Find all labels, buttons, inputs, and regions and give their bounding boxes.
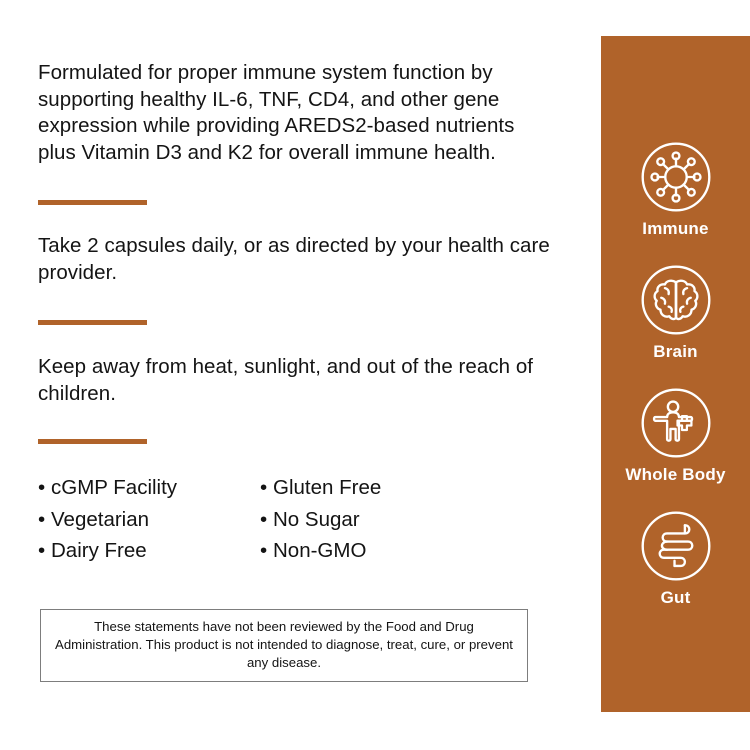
list-item: • Vegetarian <box>38 504 260 536</box>
list-item-label: Dairy Free <box>51 535 147 567</box>
bullet-icon: • <box>38 504 51 536</box>
benefit-immune: Immune <box>601 140 750 239</box>
benefit-label: Gut <box>661 588 691 608</box>
attribute-list: • cGMP Facility • Vegetarian • Dairy Fre… <box>38 472 558 567</box>
list-item: • Non-GMO <box>260 535 480 567</box>
bullet-icon: • <box>260 504 273 536</box>
list-item-label: Vegetarian <box>51 504 149 536</box>
spacer <box>38 166 558 200</box>
list-item: • cGMP Facility <box>38 472 260 504</box>
list-item-label: Gluten Free <box>273 472 381 504</box>
storage-warning-text: Keep away from heat, sunlight, and out o… <box>38 354 558 407</box>
list-item: • No Sugar <box>260 504 480 536</box>
spacer <box>38 407 558 439</box>
attribute-column-right: • Gluten Free • No Sugar • Non-GMO <box>260 472 480 567</box>
fda-disclaimer-box: These statements have not been reviewed … <box>40 609 528 682</box>
attribute-column-left: • cGMP Facility • Vegetarian • Dairy Fre… <box>38 472 260 567</box>
benefit-whole-body: Whole Body <box>601 386 750 485</box>
bullet-icon: • <box>260 472 273 504</box>
list-item: • Gluten Free <box>260 472 480 504</box>
bullet-icon: • <box>260 535 273 567</box>
benefit-label: Immune <box>642 219 708 239</box>
fda-disclaimer-text: These statements have not been reviewed … <box>55 619 513 670</box>
benefit-brain: Brain <box>601 263 750 362</box>
spacer <box>38 444 558 472</box>
list-item-label: No Sugar <box>273 504 360 536</box>
benefit-label: Whole Body <box>625 465 725 485</box>
list-item: • Dairy Free <box>38 535 260 567</box>
virus-cell-icon <box>639 140 713 214</box>
brain-icon <box>639 263 713 337</box>
benefits-sidebar: Immune Brain <box>601 36 750 712</box>
product-info-panel: Formulated for proper immune system func… <box>38 60 558 567</box>
bullet-icon: • <box>38 535 51 567</box>
spacer <box>38 286 558 320</box>
list-item-label: cGMP Facility <box>51 472 177 504</box>
bullet-icon: • <box>38 472 51 504</box>
product-description: Formulated for proper immune system func… <box>38 60 558 166</box>
body-health-icon <box>639 386 713 460</box>
benefit-gut: Gut <box>601 509 750 608</box>
suggested-use-text: Take 2 capsules daily, or as directed by… <box>38 233 558 286</box>
benefit-label: Brain <box>653 342 697 362</box>
spacer <box>38 325 558 354</box>
list-item-label: Non-GMO <box>273 535 366 567</box>
intestine-icon <box>639 509 713 583</box>
spacer <box>38 205 558 233</box>
